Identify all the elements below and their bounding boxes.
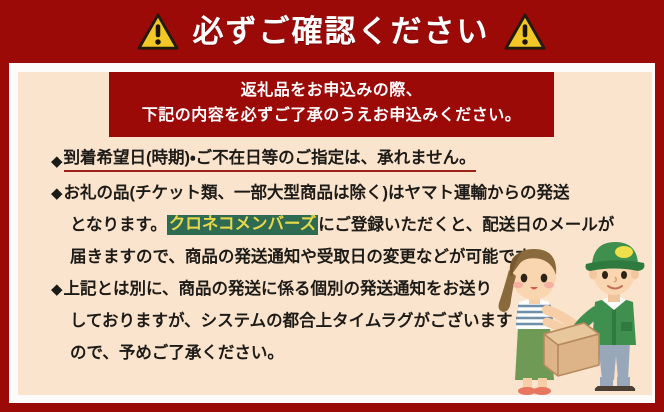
callout-line-2: 下記の内容を必ずご了承のうえお申込みください。 bbox=[142, 104, 522, 129]
bullet-line-text: 届きますので、商品の発送通知や受取日の変更などが可能です。 bbox=[70, 249, 546, 266]
warning-triangle-icon bbox=[504, 13, 546, 51]
bullet-line: 届きますので、商品の発送通知や受取日の変更などが可能です。 bbox=[51, 241, 611, 273]
bullet-line-text: ので、予めご了承ください。 bbox=[70, 345, 284, 362]
bullet-separate-notice: ◆ 上記とは別に、商品の発送に係る個別の発送通知をお送り しておりますが、システ… bbox=[51, 273, 611, 369]
bullet-line-text: お礼の品(チケット類、一部大型商品は除く)はヤマト運輸からの発送 bbox=[64, 185, 570, 202]
content-panel: 返礼品をお申込みの際、 下記の内容を必ずご了承のうえお申込みください。 ◆ 到着… bbox=[18, 72, 652, 395]
page-title: 必ずご確認ください bbox=[193, 16, 490, 47]
header-banner: 必ずご確認ください bbox=[9, 0, 664, 63]
notice-card: 必ずご確認ください 返礼品をお申込みの際、 下記の内容を必ずご了承のうえお申込み… bbox=[0, 0, 664, 412]
bullet-line-text-pre: となります。 bbox=[70, 217, 167, 234]
bullet-line: しておりますが、システムの都合上タイムラグがございます bbox=[51, 305, 611, 337]
bullet-line-text: 到着希望日(時期)・ご不在日等のご指定は、承れません。 bbox=[64, 150, 476, 172]
bullet-delivery-date: ◆ 到着希望日(時期)・ご不在日等のご指定は、承れません。 bbox=[51, 145, 611, 177]
bullet-line: ので、予めご了承ください。 bbox=[51, 337, 611, 369]
bullet-line: ◆ 上記とは別に、商品の発送に係る個別の発送通知をお送り bbox=[51, 273, 611, 305]
bullet-line-text: 上記とは別に、商品の発送に係る個別の発送通知をお送り bbox=[64, 281, 493, 298]
bullet-line: ◆ お礼の品(チケット類、一部大型商品は除く)はヤマト運輸からの発送 bbox=[51, 177, 611, 209]
bullet-icon: ◆ bbox=[51, 186, 63, 201]
callout-box: 返礼品をお申込みの際、 下記の内容を必ずご了承のうえお申込みください。 bbox=[109, 72, 554, 137]
body-text: ◆ 到着希望日(時期)・ご不在日等のご指定は、承れません。 ◆ お礼の品(チケッ… bbox=[51, 145, 611, 369]
callout-line-1: 返礼品をお申込みの際、 bbox=[241, 79, 423, 104]
kuroneko-members-highlight[interactable]: クロネコメンバーズ bbox=[167, 215, 318, 235]
bullet-line-text: しておりますが、システムの都合上タイムラグがございます bbox=[70, 313, 513, 330]
bullet-icon: ◆ bbox=[51, 154, 63, 169]
bullet-line-text-post: にご登録いただくと、配送日のメールが bbox=[318, 217, 614, 234]
bullet-line: となります。クロネコメンバーズにご登録いただくと、配送日のメールが bbox=[51, 209, 611, 241]
bullet-icon: ◆ bbox=[51, 282, 63, 297]
bullet-yamato-shipping: ◆ お礼の品(チケット類、一部大型商品は除く)はヤマト運輸からの発送 となります… bbox=[51, 177, 611, 273]
bullet-line: ◆ 到着希望日(時期)・ご不在日等のご指定は、承れません。 bbox=[51, 145, 611, 177]
warning-triangle-icon bbox=[137, 13, 179, 51]
